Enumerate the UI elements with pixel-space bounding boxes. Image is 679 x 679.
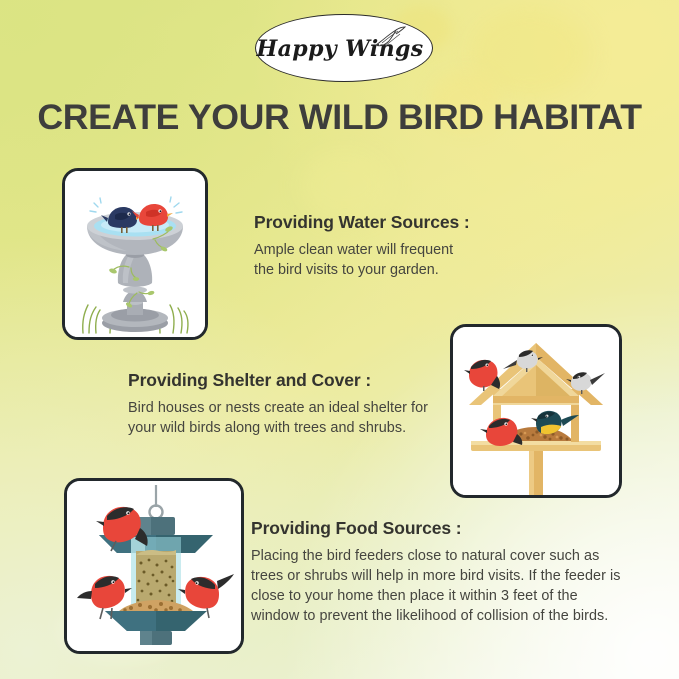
section-heading-water: Providing Water Sources : [254, 212, 470, 233]
bird-house-illustration [450, 324, 622, 498]
infographic-page: Happy Wings CREATE YOUR WILD BIRD HABITA… [0, 0, 679, 679]
section-shelter-text: Providing Shelter and Cover : Bird house… [128, 370, 428, 438]
section-food-text: Providing Food Sources : Placing the bir… [251, 518, 620, 626]
page-title: CREATE YOUR WILD BIRD HABITAT [0, 98, 679, 138]
section-body-line: Bird houses or nests create an ideal she… [128, 398, 428, 418]
section-body-line: your wild birds along with trees and shr… [128, 418, 428, 438]
tube-feeder-drawing [67, 481, 241, 651]
section-body-line: trees or shrubs will help in more bird v… [251, 566, 620, 586]
brand-logo: Happy Wings [255, 14, 433, 82]
section-body-line: Ample clean water will frequent [254, 240, 470, 260]
section-water-text: Providing Water Sources : Ample clean wa… [254, 212, 470, 280]
section-body-line: the bird visits to your garden. [254, 260, 470, 280]
section-heading-shelter: Providing Shelter and Cover : [128, 370, 428, 391]
section-heading-food: Providing Food Sources : [251, 518, 620, 539]
bird-house-drawing [453, 327, 619, 495]
section-body-line: close to your home then place it within … [251, 586, 620, 606]
background-blob [470, 8, 590, 98]
bird-bath-drawing [65, 171, 205, 337]
bird-wing-icon [372, 25, 406, 51]
background-blob [300, 150, 390, 220]
section-body-line: window to prevent the likelihood of coll… [251, 606, 620, 626]
section-body-line: Placing the bird feeders close to natura… [251, 546, 620, 566]
tube-feeder-illustration [64, 478, 244, 654]
bird-bath-illustration [62, 168, 208, 340]
